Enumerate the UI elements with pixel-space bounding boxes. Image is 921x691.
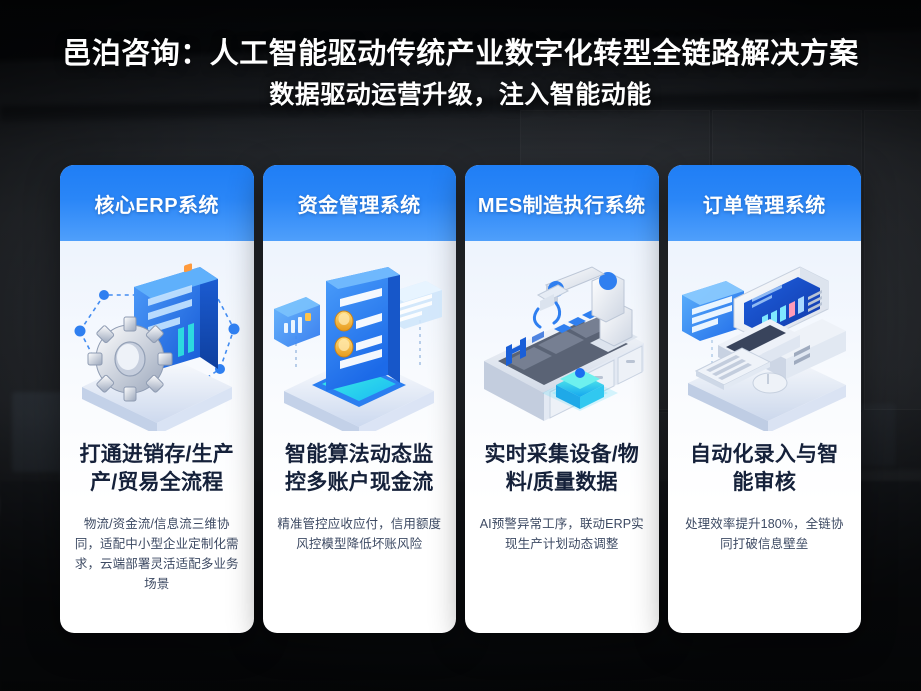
card-mes-body: 实时采集设备/物料/质量数据 AI预警异常工序，联动ERP实现生产计划动态调整 bbox=[465, 441, 659, 633]
card-erp-desc: 物流/资金流/信息流三维协同，适配中小型企业定制化需求，云端部署灵活适配多业务场… bbox=[74, 514, 240, 595]
card-oms-header-title: 订单管理系统 bbox=[703, 189, 826, 218]
card-oms-body: 自动化录入与智能审核 处理效率提升180%，全链协同打破信息壁垒 bbox=[668, 441, 862, 633]
card-oms-desc: 处理效率提升180%，全链协同打破信息壁垒 bbox=[682, 514, 848, 555]
card-erp[interactable]: 核心ERP系统 bbox=[60, 165, 254, 633]
card-erp-header: 核心ERP系统 bbox=[60, 165, 254, 241]
card-mes-illustration bbox=[465, 241, 659, 441]
card-treasury-header-title: 资金管理系统 bbox=[298, 189, 421, 218]
card-oms-header: 订单管理系统 bbox=[668, 165, 862, 241]
card-oms-illustration bbox=[668, 241, 862, 441]
card-oms[interactable]: 订单管理系统 bbox=[668, 165, 862, 633]
solution-cards-row: 核心ERP系统 bbox=[60, 165, 861, 633]
card-erp-body: 打通进销存/生产产/贸易全流程 物流/资金流/信息流三维协同，适配中小型企业定制… bbox=[60, 441, 254, 633]
card-treasury-illustration bbox=[263, 241, 457, 441]
gear-document-network-icon bbox=[68, 251, 246, 431]
card-treasury-desc: 精准管控应收应付，信用额度风控模型降低坏账风险 bbox=[277, 514, 443, 555]
card-treasury-lead: 智能算法动态监控多账户现金流 bbox=[277, 441, 443, 498]
card-mes[interactable]: MES制造执行系统 bbox=[465, 165, 659, 633]
card-mes-header-title: MES制造执行系统 bbox=[478, 189, 646, 218]
desktop-chart-keyboard-icon bbox=[674, 251, 854, 431]
card-mes-header: MES制造执行系统 bbox=[465, 165, 659, 241]
ledger-coins-chart-icon bbox=[270, 251, 448, 431]
page-title: 邑泊咨询：人工智能驱动传统产业数字化转型全链路解决方案 bbox=[0, 36, 921, 72]
header-titles: 邑泊咨询：人工智能驱动传统产业数字化转型全链路解决方案 数据驱动运营升级，注入智… bbox=[0, 36, 921, 112]
card-treasury-body: 智能算法动态监控多账户现金流 精准管控应收应付，信用额度风控模型降低坏账风险 bbox=[263, 441, 457, 633]
card-mes-desc: AI预警异常工序，联动ERP实现生产计划动态调整 bbox=[479, 514, 645, 555]
card-erp-illustration bbox=[60, 241, 254, 441]
card-erp-lead: 打通进销存/生产产/贸易全流程 bbox=[74, 441, 240, 498]
card-treasury[interactable]: 资金管理系统 bbox=[263, 165, 457, 633]
robot-arm-conveyor-icon bbox=[472, 251, 652, 431]
card-erp-header-title: 核心ERP系统 bbox=[94, 189, 219, 218]
card-mes-lead: 实时采集设备/物料/质量数据 bbox=[479, 441, 645, 498]
page-subtitle: 数据驱动运营升级，注入智能动能 bbox=[0, 80, 921, 111]
card-oms-lead: 自动化录入与智能审核 bbox=[682, 441, 848, 498]
card-treasury-header: 资金管理系统 bbox=[263, 165, 457, 241]
